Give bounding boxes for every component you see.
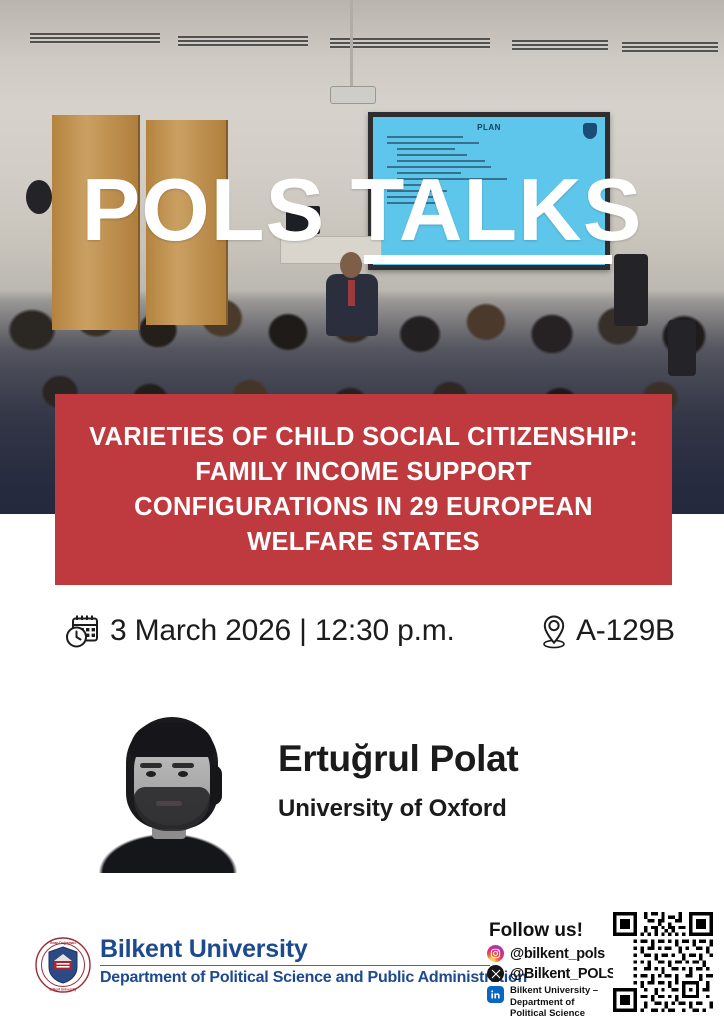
event-location: A-129B	[536, 604, 675, 658]
poster-root: PLAN POLS TALKS VARIETIES OF CHILD SOCIA	[0, 0, 724, 1024]
speaker-name: Ertuğrul Polat	[278, 738, 518, 780]
presenter-tie	[348, 280, 355, 306]
linkedin-icon[interactable]	[487, 986, 504, 1003]
ceiling-projector	[330, 86, 376, 104]
bilkent-university-seal-icon: İhsan Doğramacı Bilkent University	[34, 936, 92, 994]
talk-title: VARIETIES OF CHILD SOCIAL CITIZENSHIP: F…	[77, 420, 650, 560]
event-datetime-text: 3 March 2026 | 12:30 p.m.	[110, 604, 455, 658]
calendar-clock-icon	[62, 610, 104, 652]
ceiling-vent	[30, 33, 160, 44]
ceiling-vent	[178, 36, 308, 47]
speaker-block: Ertuğrul Polat University of Oxford	[0, 700, 724, 880]
slide-heading: PLAN	[373, 123, 605, 132]
follow-us-heading: Follow us!	[489, 920, 612, 942]
x-handle[interactable]: @Bilkent_POLS	[510, 966, 616, 982]
wall-speaker	[614, 254, 648, 326]
event-location-text: A-129B	[576, 604, 675, 658]
talk-title-banner: VARIETIES OF CHILD SOCIAL CITIZENSHIP: F…	[55, 394, 672, 585]
department-name: Department of Political Science and Publ…	[100, 968, 500, 987]
social-row-linkedin[interactable]: Bilkent University – Department of Polit…	[487, 985, 612, 1020]
ceiling-vent	[330, 38, 490, 49]
svg-text:Bilkent University: Bilkent University	[50, 988, 77, 992]
page-title: POLS TALKS	[0, 162, 724, 258]
social-links: Follow us! @bilkent_pols @Bil	[487, 920, 612, 1023]
bilkent-text-lockup: Bilkent University Department of Politic…	[100, 934, 500, 987]
speaker-portrait	[78, 705, 258, 873]
event-meta-row: 3 March 2026 | 12:30 p.m. A-129B	[0, 604, 724, 664]
qr-code[interactable]	[613, 912, 713, 1012]
instagram-icon[interactable]	[487, 945, 504, 962]
map-pin-icon	[536, 611, 572, 651]
instagram-handle[interactable]: @bilkent_pols	[510, 946, 605, 962]
event-datetime: 3 March 2026 | 12:30 p.m.	[62, 604, 455, 658]
social-row-x[interactable]: @Bilkent_POLS	[487, 965, 612, 982]
linkedin-handle[interactable]: Bilkent University – Department of Polit…	[510, 985, 598, 1020]
university-name: Bilkent University	[100, 934, 500, 964]
projector-rod	[350, 0, 353, 88]
divider	[100, 965, 490, 966]
title-underline	[364, 255, 612, 264]
wall-speaker	[668, 320, 696, 376]
speaker-affiliation: University of Oxford	[278, 795, 507, 823]
slide-logo	[583, 123, 597, 139]
svg-text:İhsan Doğramacı: İhsan Doğramacı	[50, 941, 76, 945]
x-twitter-icon[interactable]	[487, 965, 504, 982]
ceiling-vent	[622, 42, 718, 53]
ceiling-vent	[512, 40, 608, 51]
social-row-instagram[interactable]: @bilkent_pols	[487, 945, 612, 962]
portrait-graphic	[78, 705, 258, 873]
